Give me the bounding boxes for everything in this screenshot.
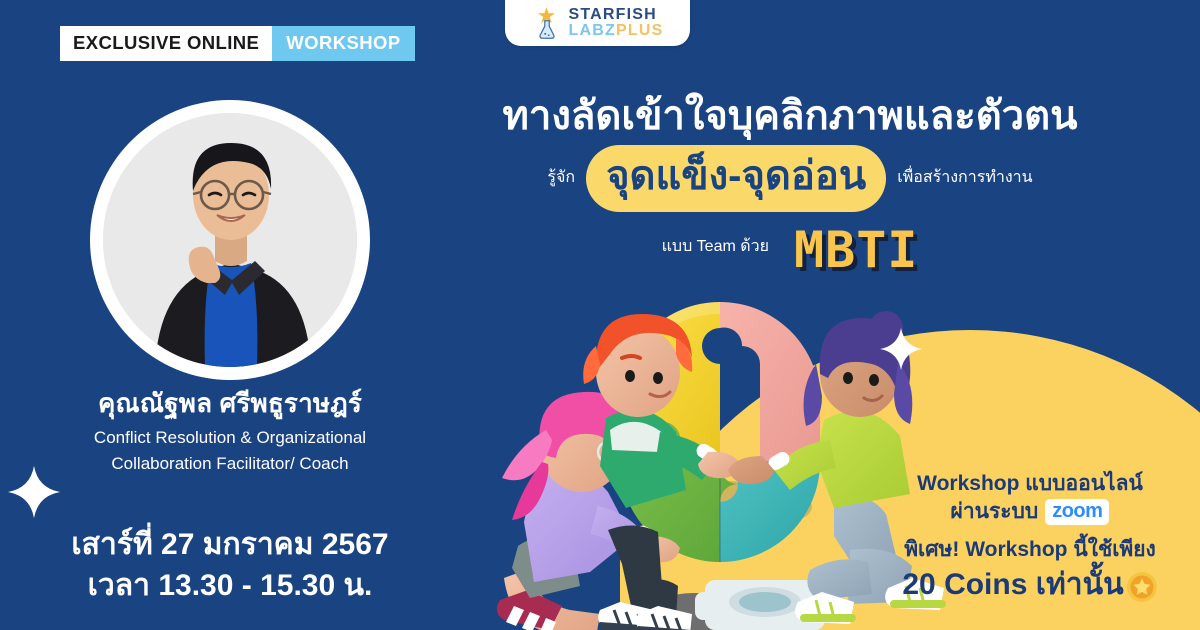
- headline-line-1: ทางลัดเข้าใจบุคลิกภาพและตัวตน: [420, 88, 1160, 145]
- speaker-name: คุณณัฐพล ศรีพธูราษฎร์: [0, 386, 460, 420]
- headline-line-2-prefix: รู้จัก: [547, 167, 575, 190]
- speaker-role-line-1: Conflict Resolution & Organizational: [0, 425, 460, 451]
- promo-block: Workshop แบบออนไลน์ ผ่านระบบ zoom พิเศษ!…: [880, 470, 1180, 604]
- speaker-avatar-ring: [90, 100, 370, 380]
- badge-exclusive-online-label: EXCLUSIVE ONLINE: [60, 26, 272, 61]
- poster-canvas: EXCLUSIVE ONLINE WORKSHOP ★ STARFISH LAB…: [0, 0, 1200, 630]
- promo-price-label: 20 Coins เท่านั้น: [902, 565, 1123, 605]
- logo-plus-text: PLUS: [616, 22, 663, 39]
- headline-highlight-pill: จุดแข็ง-จุดอ่อน: [586, 145, 886, 212]
- speaker-role-line-2: Collaboration Facilitator/ Coach: [0, 451, 460, 477]
- promo-price-row: 20 Coins เท่านั้น: [880, 565, 1180, 605]
- schedule-time: เวลา 13.30 - 15.30 น.: [0, 566, 460, 607]
- logo-labz-text: LABZ: [569, 22, 616, 39]
- coin-star-icon: [1126, 571, 1158, 603]
- headline-line-3: แบบ Team ด้วย MBTI: [420, 212, 1160, 283]
- promo-platform-row: ผ่านระบบ zoom: [880, 498, 1180, 526]
- schedule-info: เสาร์ที่ 27 มกราคม 2567 เวลา 13.30 - 15.…: [0, 525, 460, 606]
- badge-workshop-label: WORKSHOP: [272, 26, 414, 61]
- speaker-portrait: [103, 113, 357, 367]
- starfish-labz-plus-logo[interactable]: ★ STARFISH LABZPLUS: [505, 0, 690, 46]
- headline-block: ทางลัดเข้าใจบุคลิกภาพและตัวตน รู้จัก จุด…: [420, 88, 1160, 283]
- mbti-wordmark: MBTI: [794, 215, 918, 286]
- promo-platform-prefix: ผ่านระบบ: [951, 498, 1039, 526]
- headline-line-2-suffix: เพื่อสร้างการทำงาน: [897, 167, 1032, 190]
- headline-line-3-prefix: แบบ Team ด้วย: [662, 236, 769, 259]
- speaker-info: คุณณัฐพล ศรีพธูราษฎร์ Conflict Resolutio…: [0, 386, 460, 476]
- zoom-logo: zoom: [1045, 499, 1109, 525]
- promo-online-label: Workshop แบบออนไลน์: [880, 470, 1180, 498]
- flask-star-icon: ★: [532, 6, 562, 40]
- promo-special-label: พิเศษ! Workshop นี้ใช้เพียง: [880, 535, 1180, 564]
- exclusive-workshop-badge: EXCLUSIVE ONLINE WORKSHOP: [60, 26, 415, 61]
- headline-line-2: รู้จัก จุดแข็ง-จุดอ่อน เพื่อสร้างการทำงา…: [420, 145, 1160, 212]
- sparkle-icon: [8, 466, 60, 518]
- logo-starfish-text: STARFISH: [569, 7, 664, 23]
- sparkle-icon: [880, 328, 922, 370]
- schedule-date: เสาร์ที่ 27 มกราคม 2567: [0, 525, 460, 566]
